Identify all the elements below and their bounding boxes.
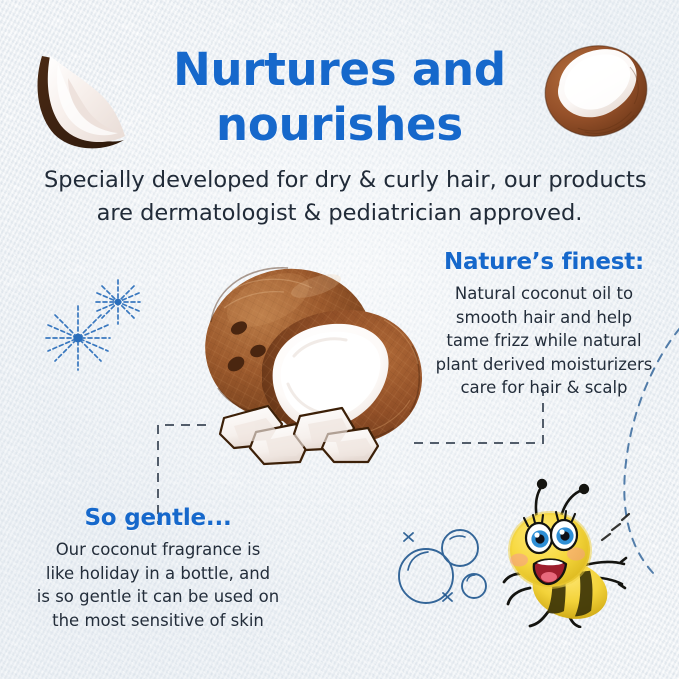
so-gentle-block: So gentle... Our coconut fragrance is li…: [22, 504, 294, 632]
subtitle-line-2: are dermatologist & pediatrician approve…: [44, 197, 635, 230]
so-gentle-body: Our coconut fragrance is like holiday in…: [22, 538, 294, 632]
natures-finest-body: Natural coconut oil to smooth hair and h…: [418, 282, 670, 400]
subtitle-line-1: Specially developed for dry & curly hair…: [44, 164, 635, 197]
natures-finest-line-1: Natural coconut oil to: [418, 282, 670, 306]
coconut-pair-icon: [196, 248, 436, 470]
headline-line-1: Nurtures and: [0, 42, 679, 97]
natures-finest-title: Nature’s finest:: [418, 248, 670, 276]
sparkle-icon: [42, 268, 154, 372]
page-subtitle: Specially developed for dry & curly hair…: [44, 164, 635, 230]
headline-line-2: nourishes: [0, 97, 679, 152]
natures-finest-block: Nature’s finest: Natural coconut oil to …: [418, 248, 670, 400]
page-title: Nurtures and nourishes: [0, 42, 679, 152]
natures-finest-line-3: tame frizz while natural: [418, 329, 670, 353]
bubbles-icon: [388, 524, 496, 606]
bee-icon: [494, 478, 634, 628]
natures-finest-line-2: smooth hair and help: [418, 306, 670, 330]
so-gentle-line-3: is so gentle it can be used on: [22, 585, 294, 609]
so-gentle-title: So gentle...: [22, 504, 294, 532]
so-gentle-line-1: Our coconut fragrance is: [22, 538, 294, 562]
poster-canvas: Nurtures and nourishes Specially develop…: [0, 0, 679, 679]
so-gentle-line-2: like holiday in a bottle, and: [22, 562, 294, 586]
natures-finest-line-4: plant derived moisturizers: [418, 353, 670, 377]
so-gentle-line-4: the most sensitive of skin: [22, 609, 294, 633]
natures-finest-line-5: care for hair & scalp: [418, 376, 670, 400]
